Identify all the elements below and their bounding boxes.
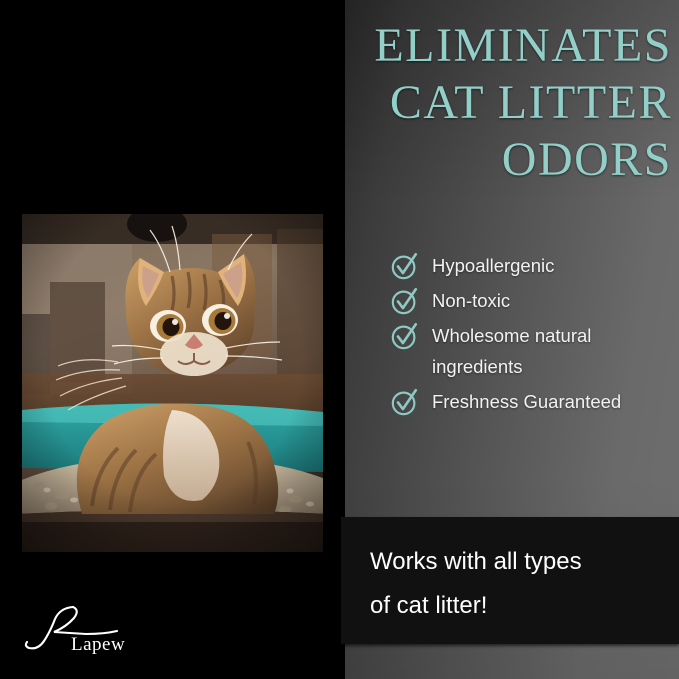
list-item: Freshness Guaranteed: [390, 386, 675, 417]
cat-in-litter-box-photo: [22, 214, 323, 552]
headline-line-3: ODORS: [52, 131, 672, 188]
list-item-label: Hypoallergenic: [432, 250, 554, 281]
feature-list: Hypoallergenic Non-toxic Wholesome natur…: [390, 250, 675, 421]
list-item: Hypoallergenic: [390, 250, 675, 281]
headline-line-2: CAT LITTER: [52, 74, 672, 131]
check-circle-icon: [390, 251, 420, 281]
list-item: Wholesome natural ingredients: [390, 320, 675, 382]
brand-logo: Lapew: [24, 603, 154, 665]
list-item-label: Non-toxic: [432, 285, 510, 316]
check-circle-icon: [390, 286, 420, 316]
list-item-label: Freshness Guaranteed: [432, 386, 621, 417]
check-circle-icon: [390, 387, 420, 417]
callout-line-2: of cat litter!: [370, 584, 660, 628]
product-ad-banner: ELIMINATES CAT LITTER ODORS Hypoallergen…: [0, 0, 679, 679]
list-item-label: Wholesome natural ingredients: [432, 320, 675, 382]
list-item: Non-toxic: [390, 285, 675, 316]
headline-line-1: ELIMINATES: [52, 17, 672, 74]
check-circle-icon: [390, 321, 420, 351]
callout-text: Works with all types of cat litter!: [370, 540, 660, 628]
page-title: ELIMINATES CAT LITTER ODORS: [52, 17, 672, 188]
brand-name: Lapew: [71, 634, 125, 656]
callout-box: Works with all types of cat litter!: [341, 517, 679, 644]
callout-line-1: Works with all types: [370, 540, 660, 584]
